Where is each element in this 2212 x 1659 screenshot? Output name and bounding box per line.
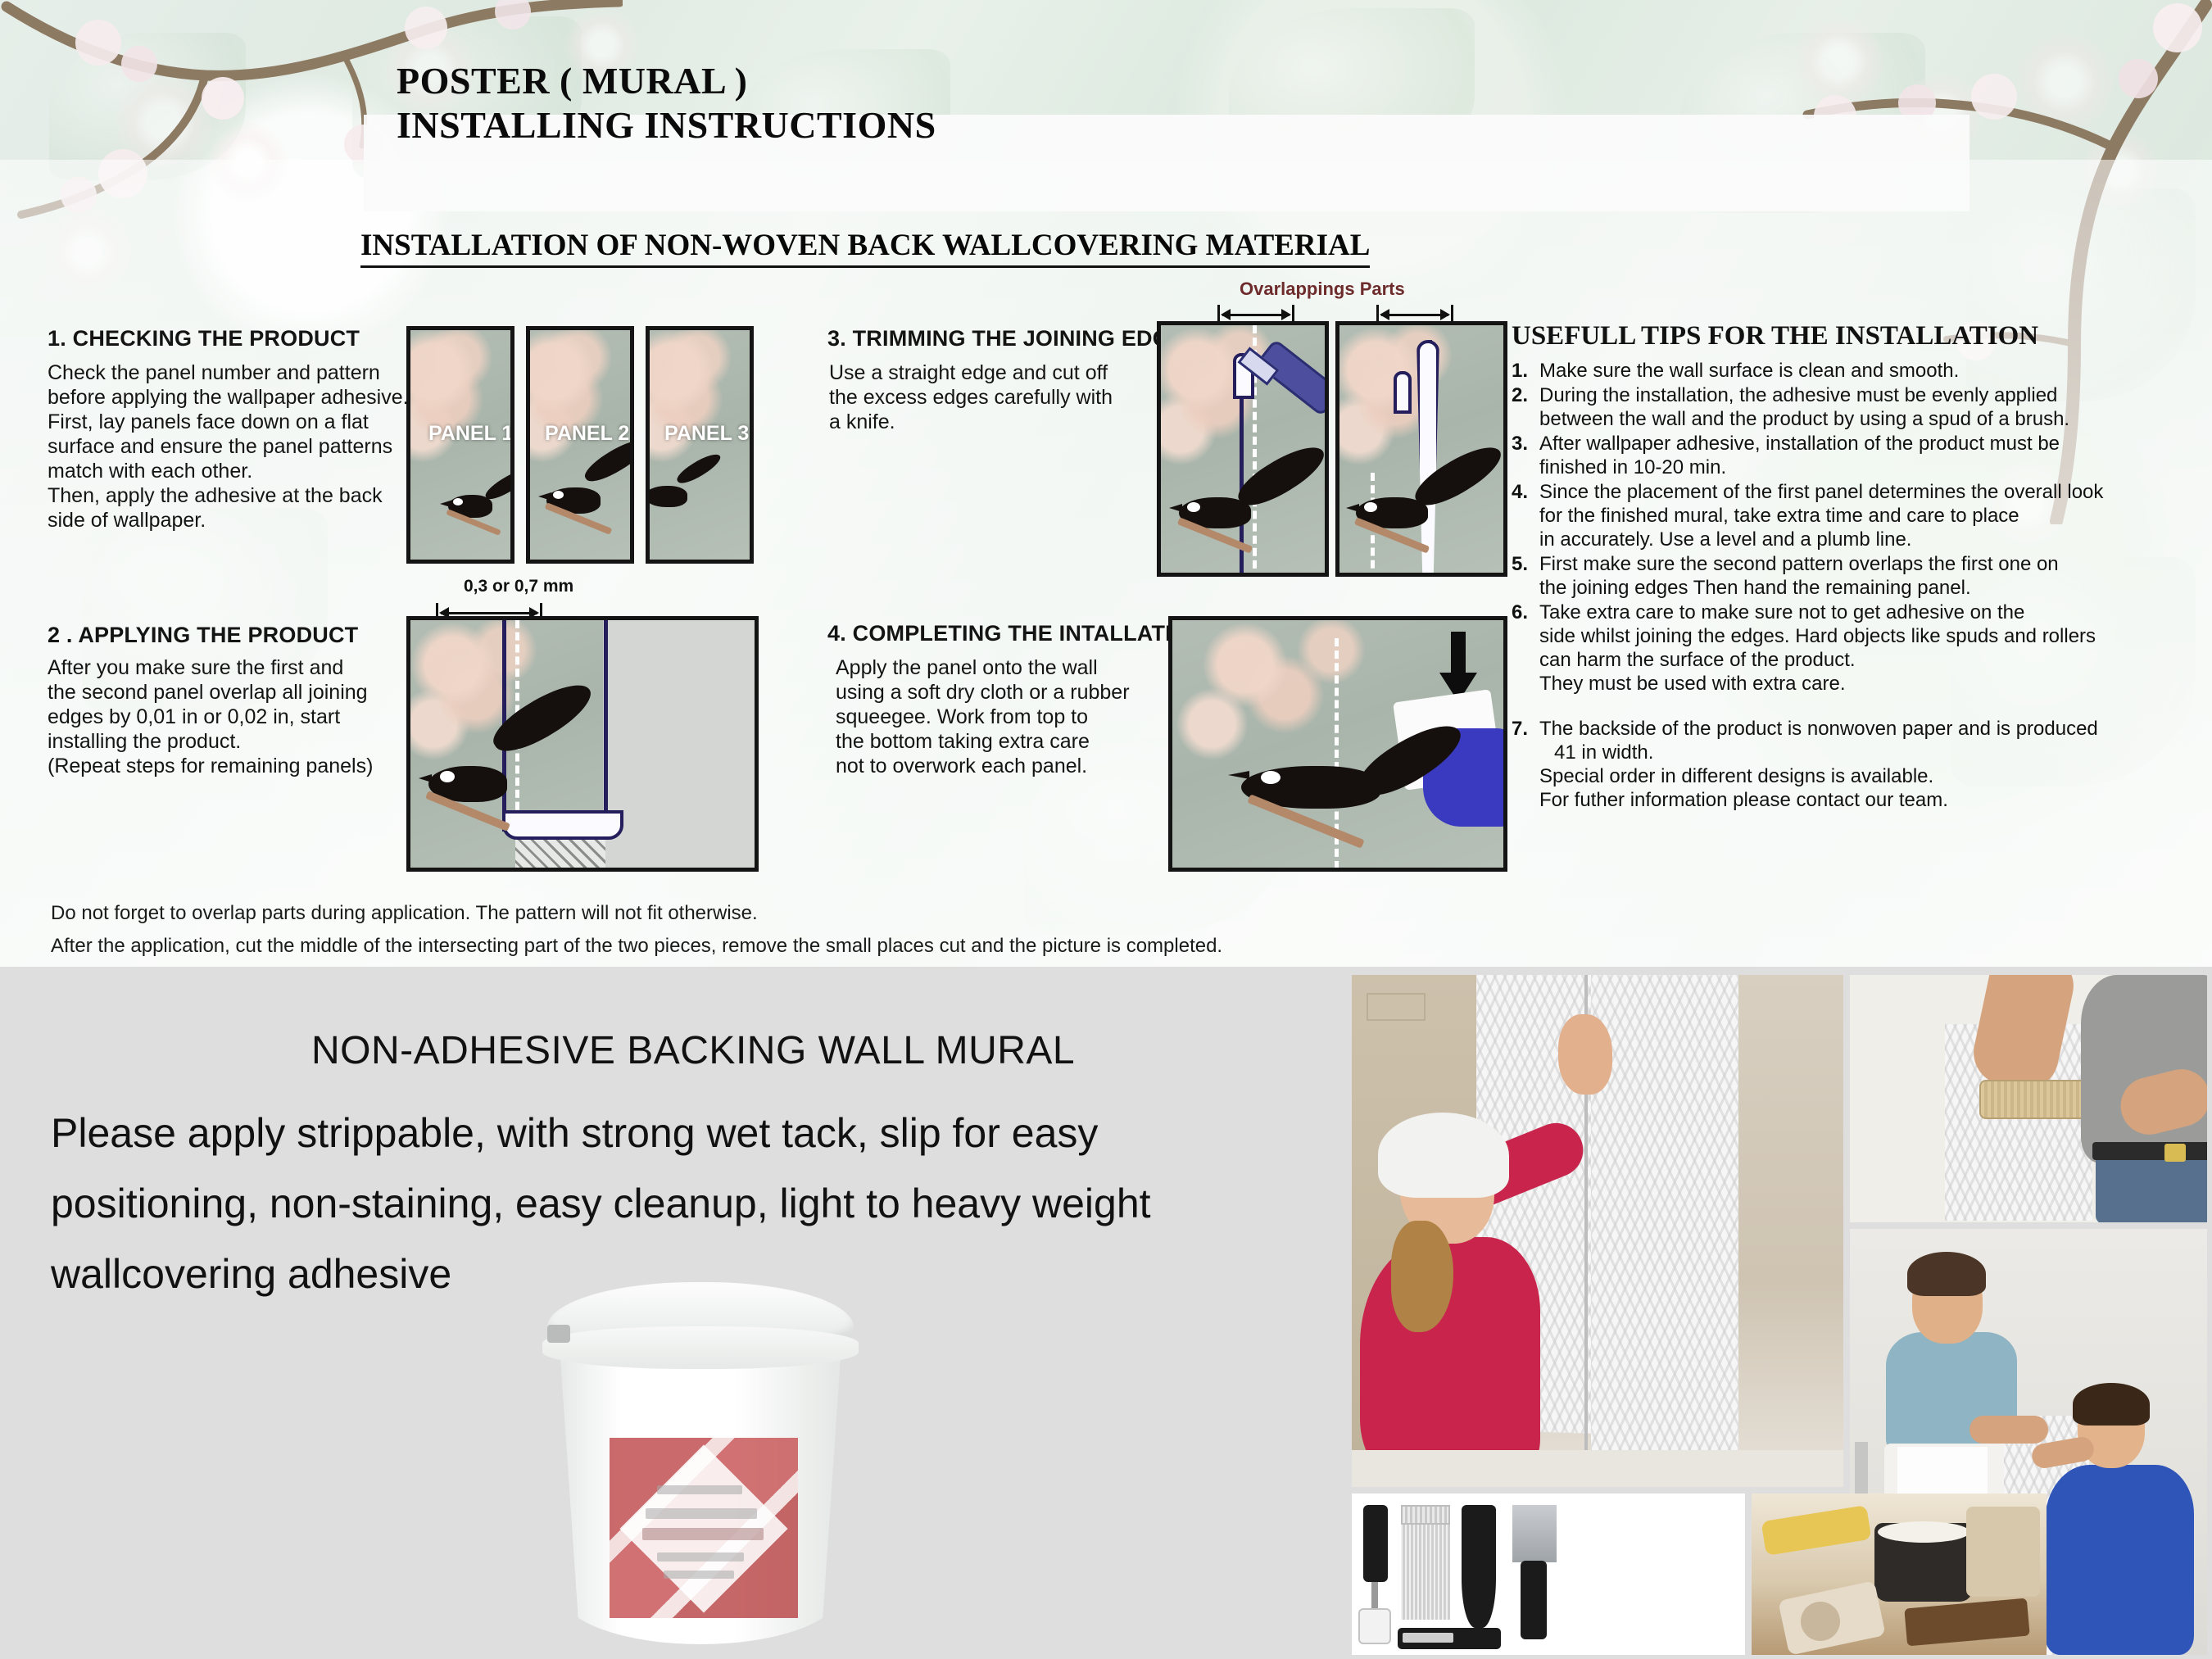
gap-measure-label: 0,3 or 0,7 mm bbox=[464, 577, 573, 596]
panel-2-box: PANEL 2 bbox=[526, 326, 634, 564]
step-3-line-1: Use a straight edge and cut off bbox=[829, 360, 1113, 385]
smoothing-brush-icon bbox=[1401, 1505, 1450, 1525]
tip-line: between the wall and the product by usin… bbox=[1539, 407, 2069, 431]
tip-line: 41 in width. bbox=[1539, 741, 2098, 764]
step-4-heading: 4. COMPLETING THE INTALLATION bbox=[827, 621, 1205, 646]
footer-note-1: Do not forget to overlap parts during ap… bbox=[51, 897, 1689, 930]
tip-text: First make sure the second pattern overl… bbox=[1539, 552, 2059, 600]
step-1-diagram: PANEL 1 PANEL 2 PANEL 3 bbox=[406, 326, 759, 572]
step-4-line-5: not to overwork each panel. bbox=[836, 754, 1130, 778]
step-2-heading: 2 . APPLYING THE PRODUCT bbox=[48, 623, 358, 648]
step-4-body: Apply the panel onto the wall using a so… bbox=[836, 655, 1130, 778]
panel-1-label: PANEL 1 bbox=[428, 422, 513, 446]
footer-notes: Do not forget to overlap parts during ap… bbox=[51, 897, 1689, 963]
step-2-line-2: the second panel overlap all joining bbox=[48, 680, 373, 705]
tip-line: can harm the surface of the product. bbox=[1539, 648, 2096, 672]
tip-number: 1. bbox=[1512, 359, 1539, 383]
seam-roller-handle-icon bbox=[1363, 1505, 1388, 1582]
poster-title-line-2: INSTALLING INSTRUCTIONS bbox=[397, 103, 936, 147]
tip-text: Since the placement of the first panel d… bbox=[1539, 480, 2103, 551]
step-1-line-7: side of wallpaper. bbox=[48, 508, 409, 533]
tip-line: Make sure the wall surface is clean and … bbox=[1539, 359, 1959, 383]
step-1-body: Check the panel number and pattern befor… bbox=[48, 360, 409, 533]
instruction-sheet: POSTER ( MURAL ) INSTALLING INSTRUCTIONS… bbox=[0, 0, 2212, 967]
photo-collage bbox=[1352, 975, 2207, 1655]
step-3-diagram-straightedge bbox=[1335, 321, 1507, 577]
step-1-line-3: First, lay panels face down on a flat bbox=[48, 410, 409, 434]
tip-text: During the installation, the adhesive mu… bbox=[1539, 383, 2069, 431]
panel-1-box: PANEL 1 bbox=[406, 326, 514, 564]
tip-line: for the finished mural, take extra time … bbox=[1539, 504, 2103, 528]
tip-line: After wallpaper adhesive, installation o… bbox=[1539, 432, 2060, 456]
tips-list: 1. Make sure the wall surface is clean a… bbox=[1512, 359, 2192, 813]
adhesive-bucket-image bbox=[541, 1282, 860, 1655]
step-4-line-3: squeegee. Work from top to bbox=[836, 705, 1130, 729]
tip-line: First make sure the second pattern overl… bbox=[1539, 552, 2059, 576]
bucket-label bbox=[610, 1438, 798, 1618]
step-3-body: Use a straight edge and cut off the exce… bbox=[829, 360, 1113, 434]
poster-subtitle: INSTALLATION OF NON-WOVEN BACK WALLCOVER… bbox=[360, 228, 1370, 268]
step-2-line-3: edges by 0,01 in or 0,02 in, start bbox=[48, 705, 373, 729]
step-3-line-2: the excess edges carefully with bbox=[829, 385, 1113, 410]
tip-line: in accurately. Use a level and a plumb l… bbox=[1539, 528, 2103, 551]
step-4-line-2: using a soft dry cloth or a rubber bbox=[836, 680, 1130, 705]
tip-line: They must be used with extra care. bbox=[1539, 672, 2096, 696]
tip-line: the joining edges Then hand the remainin… bbox=[1539, 576, 2059, 600]
bucket-handle-icon bbox=[547, 1325, 570, 1343]
step-1-line-4: surface and ensure the panel patterns bbox=[48, 434, 409, 459]
tip-item: 2. During the installation, the adhesive… bbox=[1512, 383, 2192, 431]
overlapping-parts-label: Ovarlappings Parts bbox=[1240, 279, 1405, 300]
step-4-diagram bbox=[1168, 616, 1507, 872]
tip-number: 4. bbox=[1512, 480, 1539, 551]
tip-line: Since the placement of the first panel d… bbox=[1539, 480, 2103, 504]
photo-applying-adhesive-roller bbox=[1850, 975, 2207, 1222]
bottom-heading: NON-ADHESIVE BACKING WALL MURAL bbox=[311, 1028, 1075, 1073]
tip-item: 3. After wallpaper adhesive, installatio… bbox=[1512, 432, 2192, 479]
footer-note-2: After the application, cut the middle of… bbox=[51, 930, 1689, 963]
tip-line: The backside of the product is nonwoven … bbox=[1539, 717, 2098, 741]
tip-number: 5. bbox=[1512, 552, 1539, 600]
bottom-copy-line-2: positioning, non-staining, easy cleanup,… bbox=[51, 1168, 1329, 1239]
step-1-line-1: Check the panel number and pattern bbox=[48, 360, 409, 385]
tip-item: 5. First make sure the second pattern ov… bbox=[1512, 552, 2192, 600]
photo-woman-applying-wallpaper bbox=[1352, 975, 1843, 1487]
step-3-line-3: a knife. bbox=[829, 410, 1113, 434]
step-4-line-4: the bottom taking extra care bbox=[836, 729, 1130, 754]
step-3-heading: 3. TRIMMING THE JOINING EDGES bbox=[827, 326, 1199, 351]
tip-text: Make sure the wall surface is clean and … bbox=[1539, 359, 1959, 383]
step-1-line-6: Then, apply the adhesive at the back bbox=[48, 483, 409, 508]
step-1-heading: 1. CHECKING THE PRODUCT bbox=[48, 326, 360, 351]
bottom-copy: Please apply strippable, with strong wet… bbox=[51, 1098, 1329, 1309]
paint-roller-icon bbox=[1979, 1080, 2087, 1119]
tip-item: 1. Make sure the wall surface is clean a… bbox=[1512, 359, 2192, 383]
photo-wallpaper-tool-kit bbox=[1352, 1494, 1745, 1655]
step-2-line-4: installing the product. bbox=[48, 729, 373, 754]
tip-text: Take extra care to make sure not to get … bbox=[1539, 601, 2096, 696]
panel-3-box: PANEL 3 bbox=[646, 326, 754, 564]
step-2-line-5: (Repeat steps for remaining panels) bbox=[48, 754, 373, 778]
poster-title-line-1: POSTER ( MURAL ) bbox=[397, 59, 747, 102]
tip-number: 7. bbox=[1512, 717, 1539, 812]
tip-line: During the installation, the adhesive mu… bbox=[1539, 383, 2069, 407]
panel-3-label: PANEL 3 bbox=[664, 422, 749, 446]
step-4-line-1: Apply the panel onto the wall bbox=[836, 655, 1130, 680]
photo-wallpaper-supplies bbox=[1752, 1494, 2047, 1655]
step-1-line-5: match with each other. bbox=[48, 459, 409, 483]
step-3-diagram-cutting bbox=[1157, 321, 1329, 577]
step-2-diagram bbox=[406, 616, 759, 872]
panel-2-label: PANEL 2 bbox=[545, 422, 629, 446]
tip-text: The backside of the product is nonwoven … bbox=[1539, 717, 2098, 812]
title-banner: POSTER ( MURAL ) INSTALLING INSTRUCTIONS bbox=[364, 115, 1969, 211]
gloved-hand-icon bbox=[1423, 728, 1507, 827]
tip-text: After wallpaper adhesive, installation o… bbox=[1539, 432, 2060, 479]
tips-title: USEFULL TIPS FOR THE INSTALLATION bbox=[1512, 321, 2038, 351]
step-2-body: After you make sure the first and the se… bbox=[48, 655, 373, 778]
tip-number: 2. bbox=[1512, 383, 1539, 431]
tip-item: 7. The backside of the product is nonwov… bbox=[1512, 717, 2192, 812]
tip-number: 3. bbox=[1512, 432, 1539, 479]
step-1-line-2: before applying the wallpaper adhesive. bbox=[48, 385, 409, 410]
tip-line: Special order in different designs is av… bbox=[1539, 764, 2098, 788]
poster-page: POSTER ( MURAL ) INSTALLING INSTRUCTIONS… bbox=[0, 0, 2212, 1659]
tip-line: finished in 10-20 min. bbox=[1539, 456, 2060, 479]
scraper-blade-icon bbox=[1512, 1505, 1557, 1562]
bottom-copy-line-1: Please apply strippable, with strong wet… bbox=[51, 1098, 1329, 1168]
tip-item: 6. Take extra care to make sure not to g… bbox=[1512, 601, 2192, 696]
tip-line: side whilst joining the edges. Hard obje… bbox=[1539, 624, 2096, 648]
step-2-line-1: After you make sure the first and bbox=[48, 655, 373, 680]
tip-number: 6. bbox=[1512, 601, 1539, 696]
plastic-smoother-icon bbox=[1462, 1505, 1496, 1628]
tip-line: Take extra care to make sure not to get … bbox=[1539, 601, 2096, 624]
tip-line: For futher information please contact ou… bbox=[1539, 788, 2098, 812]
tip-item: 4. Since the placement of the first pane… bbox=[1512, 480, 2192, 551]
